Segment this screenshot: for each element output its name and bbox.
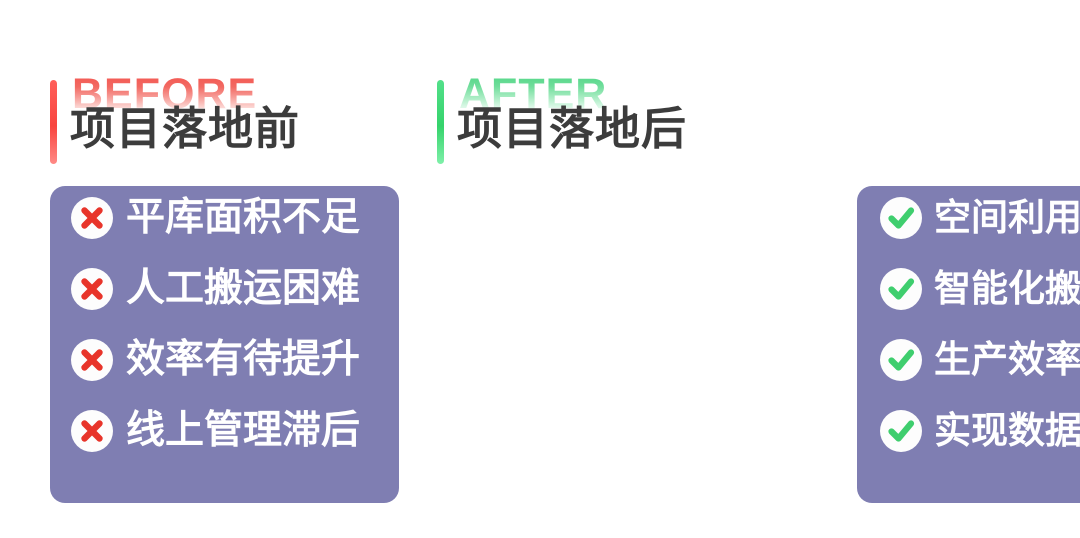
after-accent-bar xyxy=(437,80,444,164)
list-item-label: 实现数据化标准化管理 xyxy=(934,409,1080,453)
list-item: 智能化搬运、避免人工出错 xyxy=(880,267,1080,311)
cross-icon xyxy=(71,268,113,310)
before-item-list: 平库面积不足 人工搬运困难 xyxy=(50,186,399,503)
list-item: 效率有待提升 xyxy=(71,338,360,382)
list-item-label: 生产效率与出入库流量双提升 xyxy=(934,338,1080,382)
check-icon xyxy=(880,410,922,452)
after-card: 空间利用率提升近6倍 智能化搬运、避免人工出错 xyxy=(857,186,1080,503)
before-title: 项目落地前 xyxy=(70,101,300,157)
before-accent-bar xyxy=(50,80,57,164)
list-item: 实现数据化标准化管理 xyxy=(880,409,1080,453)
before-card: 平库面积不足 人工搬运困难 xyxy=(50,186,399,503)
list-item-label: 线上管理滞后 xyxy=(126,409,360,453)
list-item: 线上管理滞后 xyxy=(71,409,360,453)
check-icon xyxy=(880,197,922,239)
list-item: 生产效率与出入库流量双提升 xyxy=(880,338,1080,382)
after-title: 项目落地后 xyxy=(457,101,687,157)
list-item-label: 效率有待提升 xyxy=(126,338,360,382)
list-item-label: 智能化搬运、避免人工出错 xyxy=(934,267,1080,311)
list-item: 空间利用率提升近6倍 xyxy=(880,196,1080,240)
list-item-label: 人工搬运困难 xyxy=(126,267,360,311)
list-item: 人工搬运困难 xyxy=(71,267,360,311)
comparison-infographic: BEFORE 项目落地前 平库面积不足 xyxy=(0,0,1080,538)
list-item-label: 空间利用率提升近6倍 xyxy=(934,196,1080,240)
list-item-label: 平库面积不足 xyxy=(126,196,360,240)
check-icon xyxy=(880,339,922,381)
cross-icon xyxy=(71,197,113,239)
cross-icon xyxy=(71,410,113,452)
check-icon xyxy=(880,268,922,310)
after-item-list: 空间利用率提升近6倍 智能化搬运、避免人工出错 xyxy=(857,186,1080,503)
list-item: 平库面积不足 xyxy=(71,196,360,240)
cross-icon xyxy=(71,339,113,381)
